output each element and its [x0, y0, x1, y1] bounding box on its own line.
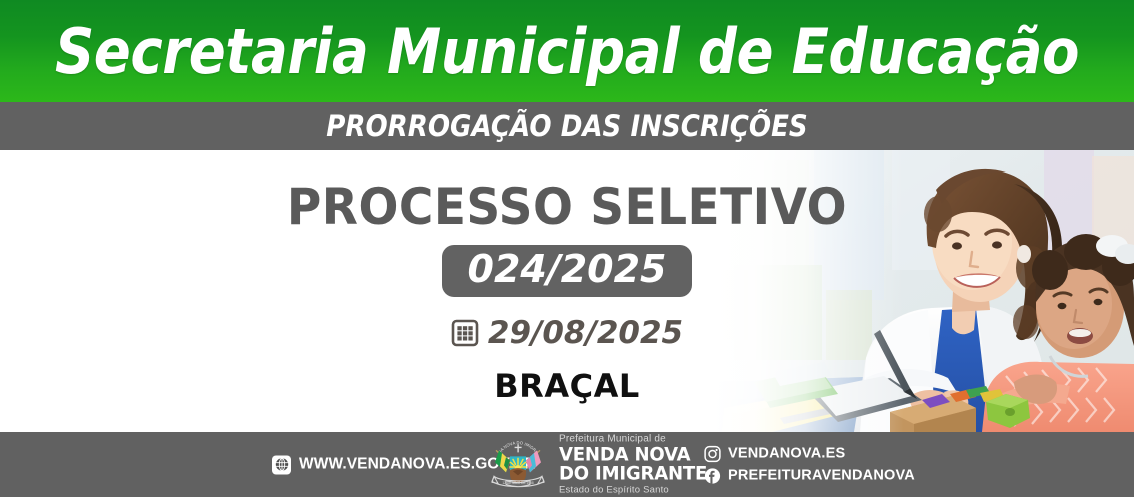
- instagram-handle: VENDANOVA.ES: [728, 446, 845, 462]
- municipality-logo: VENDA NOVA DO IMIGRANTE: [486, 434, 715, 495]
- social-links: VENDANOVA.ES PREFEITURAVENDANOVA: [704, 445, 915, 484]
- page-title: Secretaria Municipal de Educação: [68, 0, 1066, 102]
- event-date: 29/08/2025: [488, 315, 683, 351]
- green-header-band: Secretaria Municipal de Educação: [0, 0, 1134, 102]
- facebook-icon: [704, 467, 721, 484]
- instagram-icon: [704, 445, 721, 462]
- education-announcement-banner: Secretaria Municipal de Educação PRORROG…: [0, 0, 1134, 497]
- main-content-area: PROCESSO SELETIVO 024/2025: [0, 150, 1134, 432]
- calendar-icon: [451, 319, 479, 347]
- instagram-link[interactable]: VENDANOVA.ES: [704, 445, 915, 462]
- globe-icon: [272, 455, 291, 474]
- footer-bar: WWW.VENDANOVA.ES.GOV.BR VENDA NOVA DO IM…: [0, 432, 1134, 497]
- logo-line-do-imigrante: DO IMIGRANTE: [559, 464, 707, 483]
- gray-subheader-band: PRORROGAÇÃO DAS INSCRIÇÕES: [0, 102, 1134, 150]
- subtitle: PRORROGAÇÃO DAS INSCRIÇÕES: [57, 102, 1078, 150]
- process-title: PROCESSO SELETIVO: [287, 178, 847, 236]
- logo-text-group: Prefeitura Municipal de VENDA NOVA DO IM…: [559, 434, 715, 495]
- announcement-text-column: PROCESSO SELETIVO 024/2025: [0, 150, 1134, 432]
- facebook-link[interactable]: PREFEITURAVENDANOVA: [704, 467, 915, 484]
- process-number-badge: 024/2025: [442, 245, 693, 297]
- coat-of-arms-icon: VENDA NOVA DO IMIGRANTE: [486, 435, 550, 495]
- logo-line-estado: Estado do Espírito Santo: [559, 486, 715, 496]
- role-title: BRAÇAL: [494, 367, 639, 405]
- date-row: 29/08/2025: [451, 315, 683, 351]
- svg-text:12 DE MAIO DE 1988: 12 DE MAIO DE 1988: [502, 481, 533, 485]
- facebook-handle: PREFEITURAVENDANOVA: [728, 468, 915, 484]
- svg-text:VENDA NOVA DO IMIGRANTE: VENDA NOVA DO IMIGRANTE: [486, 435, 539, 456]
